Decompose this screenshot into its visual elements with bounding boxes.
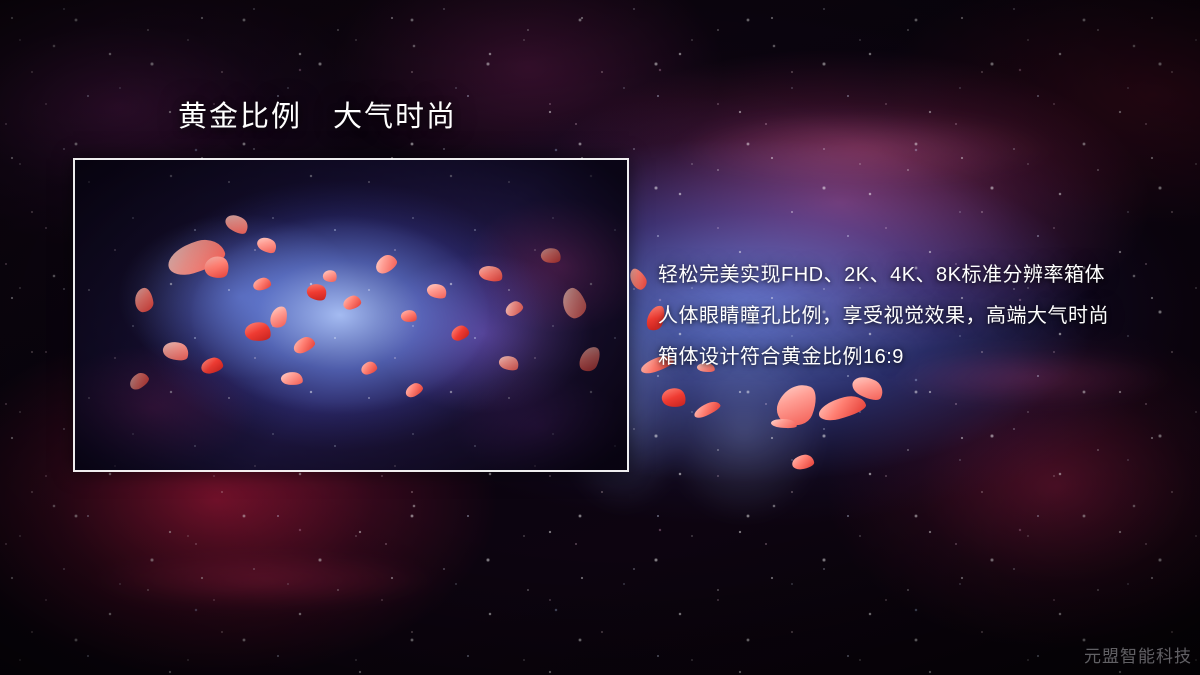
petal: [692, 399, 722, 420]
body-line-2: 人体眼睛瞳孔比例，享受视觉效果，高端大气时尚: [658, 296, 1178, 337]
watermark: 元盟智能科技: [1084, 642, 1192, 667]
petal: [772, 378, 821, 431]
framed-image: [73, 158, 629, 472]
framed-image-content: [75, 160, 627, 470]
slide-title: 黄金比例 大气时尚: [178, 100, 457, 135]
inner-vignette: [75, 160, 627, 470]
petal: [791, 454, 815, 471]
body-line-1: 轻松完美实现FHD、2K、4K、8K标准分辨率箱体: [658, 255, 1178, 296]
slide-body-text: 轻松完美实现FHD、2K、4K、8K标准分辨率箱体 人体眼睛瞳孔比例，享受视觉效…: [658, 255, 1178, 378]
petal: [626, 266, 650, 292]
body-line-3: 箱体设计符合黄金比例16:9: [658, 337, 1178, 378]
petal: [771, 418, 798, 430]
presentation-slide: 黄金比例 大气时尚 轻松完美实现FHD、2K、4K、8K标准分辨率箱体 人体眼睛…: [0, 0, 1200, 675]
petal: [660, 386, 687, 410]
petal: [816, 392, 867, 423]
